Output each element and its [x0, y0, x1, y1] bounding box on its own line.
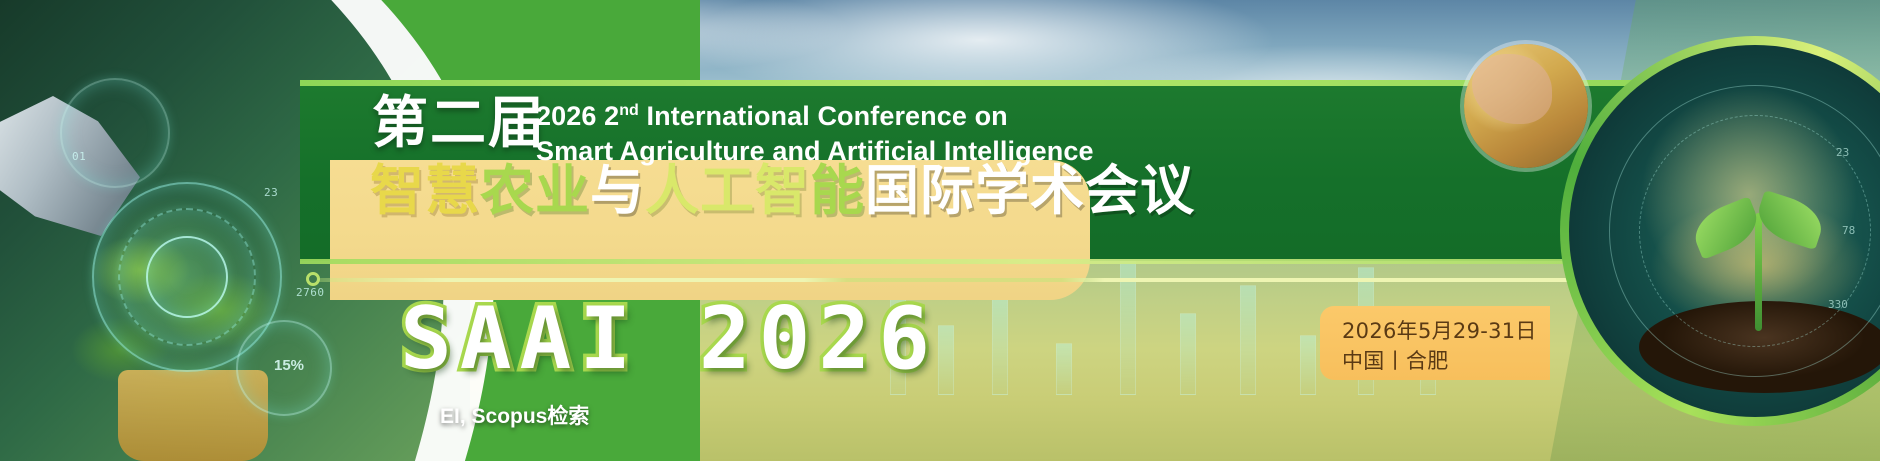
chinese-title-group-2: 农业 [480, 164, 590, 218]
circle-hud-label-2: 78 [1842, 224, 1855, 237]
plaque-bottom-edge [300, 259, 1760, 264]
conference-date: 2026年5月29-31日 [1342, 317, 1550, 347]
indexing-note: EI, Scopus检索 [440, 400, 589, 430]
conference-location: 中国丨合肥 [1342, 347, 1550, 377]
english-title-line1-pre: 2026 2 [536, 101, 619, 131]
ordinal-superscript: nd [619, 102, 639, 119]
chinese-title-group-6: 国际学术会议 [865, 164, 1195, 218]
chinese-title: 智慧农业与人工智能国际学术会议 [370, 164, 1195, 218]
hud-label-01: 01 [72, 150, 86, 163]
circle-hud-label-3: 330 [1828, 298, 1848, 311]
chinese-title-group-3: 与 [590, 164, 645, 218]
ordinal-label: 第二届 [372, 96, 546, 152]
hand-icon [1472, 54, 1552, 124]
english-title-line1: 2026 2nd International Conference on [536, 99, 1216, 134]
conference-banner: 01 23 78 2760 330 15% 第二届 2026 2nd Inter… [0, 0, 1880, 461]
wheat-hand-circle-photo [1464, 44, 1588, 168]
divider-line [318, 278, 1748, 282]
circle-hud-label-1: 23 [1836, 146, 1849, 159]
chinese-title-group-1: 智慧 [370, 164, 480, 218]
hud-ring-icon [60, 78, 170, 188]
chinese-title-group-5: 能 [810, 164, 865, 218]
acronym-title: SAAI 2026 [400, 296, 938, 382]
english-title-line1-post: International Conference on [639, 101, 1008, 131]
chinese-title-group-4: 人工智 [645, 164, 810, 218]
date-location-pill: 2026年5月29-31日 中国丨合肥 [1320, 306, 1550, 380]
